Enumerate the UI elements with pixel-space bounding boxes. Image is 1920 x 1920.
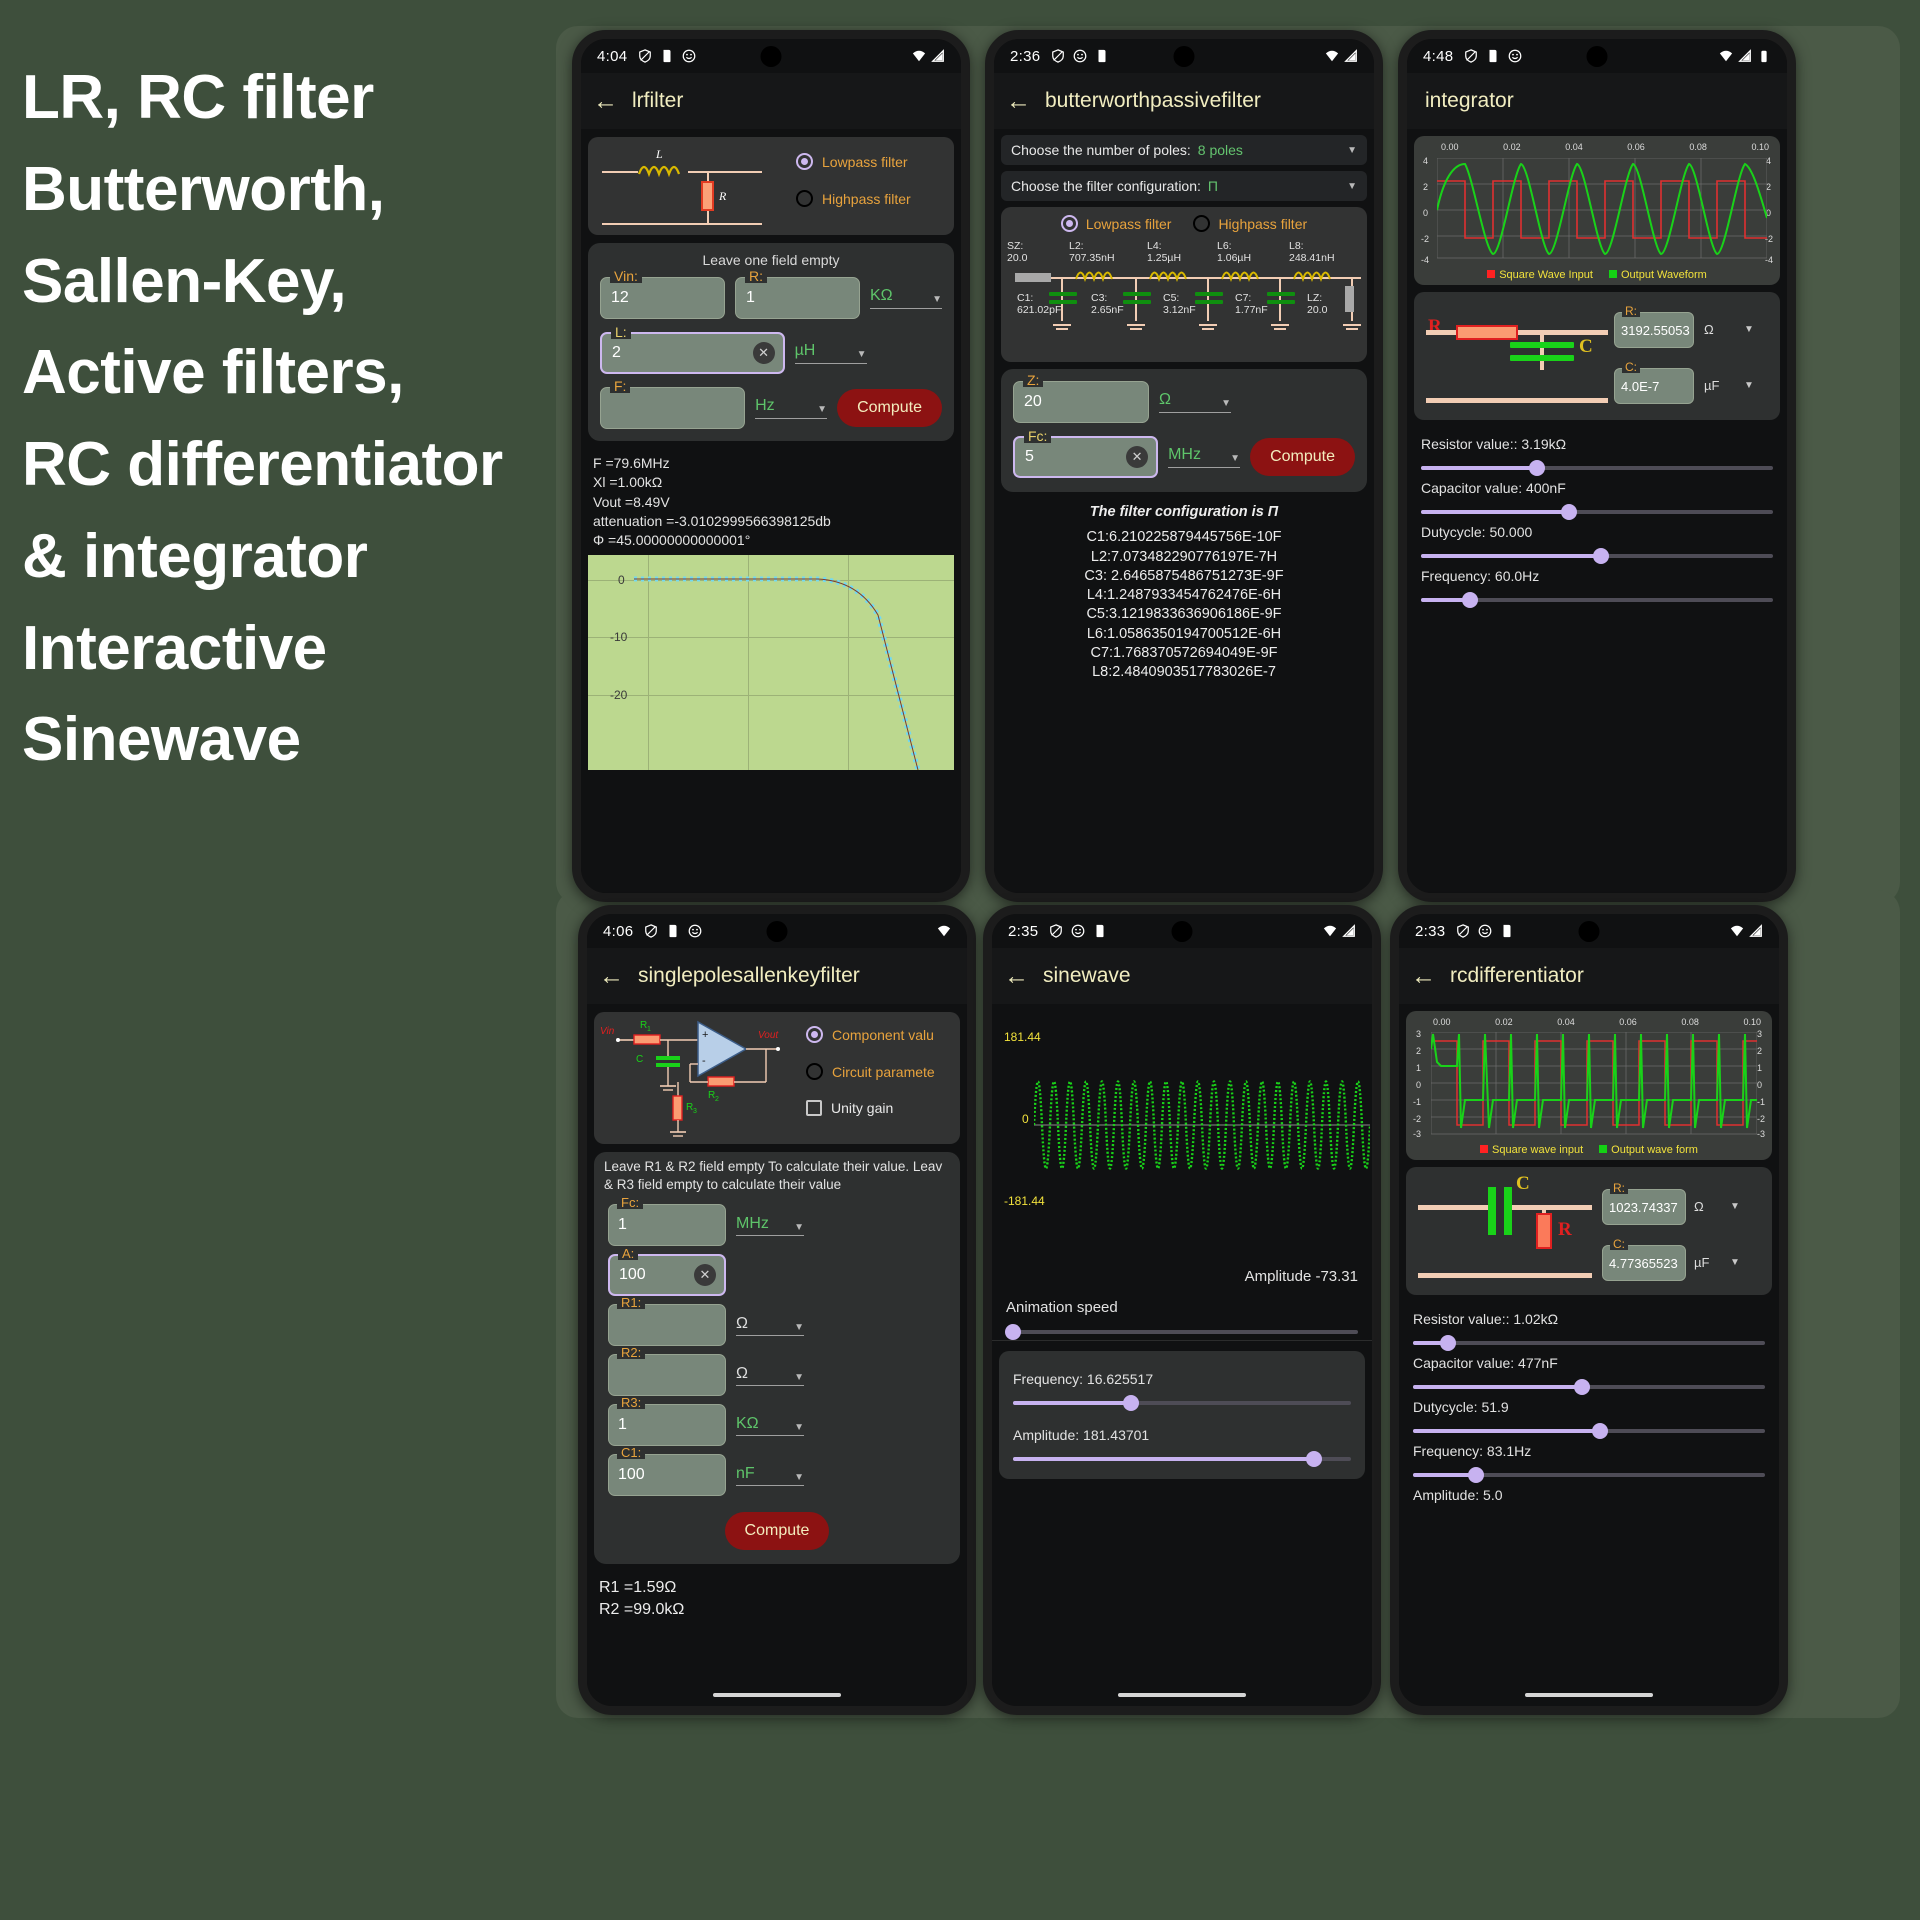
butterworth-circuit: SZ:20.0 L2:707.35nH L4:1.25µH L6:1.06µH … [1007,240,1361,356]
rcdiff-waveforms [1431,1032,1757,1136]
option-lowpass[interactable]: Lowpass filter [1061,215,1172,232]
signal-icon [1749,924,1763,938]
result-line: C3: 2.6465875486751273E-9F [1000,567,1368,586]
sd-card-icon [1500,924,1514,938]
field-r[interactable]: R: 1023.74337 [1602,1189,1686,1225]
screen-sinewave: 2:35 ← sinewave 181.44 0 -181.44 Amplitu… [992,914,1372,1706]
poles-dropdown-value: 8 poles [1198,142,1243,158]
slider-frequency[interactable] [1421,598,1773,602]
field-f-label: F: [610,379,630,393]
inductor-L6-icon [1221,268,1269,282]
emoji-icon [688,924,702,938]
source-impedance-icon [1015,273,1051,282]
field-a[interactable]: A: 100 ✕ [608,1254,726,1296]
unit-f-value: Hz [755,397,775,415]
unit-z-value: Ω [1159,391,1171,409]
unit-c: µF [1704,378,1719,393]
signal-icon [931,49,945,63]
phone-integrator: 4:48 integrator 0.00 0.02 0.04 0.06 0.08… [1398,30,1796,902]
unit-select-fc[interactable]: MHz ▼ [1168,446,1240,468]
comp-L4-value: 1.25µH [1147,252,1181,264]
xlabel: 0.06 [1619,1017,1637,1027]
option-highpass[interactable]: Highpass filter [796,190,946,207]
shield-icon [1049,924,1063,938]
chevron-down-icon[interactable]: ▼ [794,1422,804,1433]
emoji-icon [1508,49,1522,63]
option-lowpass-label: Lowpass filter [822,154,908,170]
result-line: L8:2.4840903517783026E-7 [1000,663,1368,682]
integrator-circuit-card: R C R: 3192.55053 Ω ▼ C: 4.0E-7 µF ▼ [1414,292,1780,420]
screen-sallenkey: 4:06 ← singlepolesallenkeyfilter Vin R1 [587,914,967,1706]
comp-L2-value: 707.35nH [1069,252,1115,264]
status-bar: 2:35 [992,914,1372,948]
field-r3[interactable]: R3: 1 [608,1404,726,1446]
result-line: R1 =1.59Ω [599,1577,955,1599]
unit-fc-value: MHz [736,1215,769,1233]
camera-hole [761,46,782,67]
filter-type-options: Lowpass filter Highpass filter [796,153,946,227]
comp-SZ-value: 20.0 [1007,252,1027,264]
back-button[interactable]: ← [1006,89,1031,114]
inductor-L8-icon [1293,268,1341,282]
legend-label: Square Wave Input [1499,269,1593,281]
ylabel: -3 [1413,1129,1421,1139]
result-line: C7:1.768370572694049E-9F [1000,644,1368,663]
field-f[interactable]: F: [600,387,745,429]
page-title: butterworthpassivefilter [1045,89,1261,113]
xlabel: 0.04 [1557,1017,1575,1027]
ylabel: 2 [1423,182,1428,192]
field-c-label: C: [1622,361,1640,373]
circuit-c-label: C [1516,1173,1530,1195]
camera-hole [1174,46,1195,67]
poles-dropdown[interactable]: Choose the number of poles: 8 poles ▼ [1001,135,1367,165]
shield-icon [1051,49,1065,63]
field-l[interactable]: L: 2 ✕ [600,332,785,374]
phone-sinewave: 2:35 ← sinewave 181.44 0 -181.44 Amplitu… [983,905,1381,1715]
comp-C1-name: C1: [1017,292,1033,304]
field-fc-label: Fc: [1024,429,1051,443]
field-c-value: 4.0E-7 [1621,379,1659,394]
page-title: integrator [1425,89,1514,113]
field-r3-value: 1 [618,1416,627,1434]
comp-LZ-value: 20.0 [1307,304,1327,316]
ylabel: 4 [1423,156,1428,166]
slider-label-dutycycle: Dutycycle: 50.000 [1407,514,1787,540]
slider-amplitude[interactable] [1013,1457,1351,1461]
shield-icon [1456,924,1470,938]
option-circuit-parameters[interactable]: Circuit paramete [806,1063,956,1080]
promo-headline: LR, RC filter Butterworth, Sallen-Key, A… [22,52,562,786]
battery-icon [1757,49,1771,63]
inductor-label: L [656,147,663,162]
comp-C1-value: 621.02pF [1017,304,1061,316]
result-line: Xl =1.00kΩ [593,473,949,492]
row-r2: R2: Ω ▼ [594,1346,960,1396]
rcdiff-legend: Square wave input Output wave form [1411,1141,1767,1156]
nav-gesture-bar [587,1678,967,1706]
svg-text:2: 2 [715,1096,719,1103]
row-c1: C1: 100 nF ▼ [594,1446,960,1496]
wifi-icon [937,924,951,938]
ylabel-right: -1 [1757,1097,1765,1107]
back-button[interactable]: ← [1004,964,1029,989]
chevron-down-icon[interactable]: ▼ [817,404,827,415]
field-r2[interactable]: R2: [608,1354,726,1396]
unit-select-fc[interactable]: MHz ▼ [736,1215,804,1236]
plot-xlabels: 0.00 0.02 0.04 0.06 0.08 0.10 [1411,1017,1767,1029]
radio-highpass-icon[interactable] [1193,215,1210,232]
ylabel-right: 3 [1757,1029,1762,1039]
capacitor-C7-icon [1267,292,1295,304]
option-highpass-label: Highpass filter [822,191,911,207]
butterworth-results: The filter configuration is Π C1:6.21022… [994,499,1374,687]
plot-yzero-label: 0 [1022,1112,1029,1126]
capacitor-C5-icon [1195,292,1223,304]
field-r-label: R: [1610,1182,1628,1194]
camera-hole [767,921,788,942]
result-line: L2:7.073482290776197E-7H [1000,548,1368,567]
status-bar: 4:06 [587,914,967,948]
option-unity-gain[interactable]: Unity gain [806,1100,956,1116]
unit-select-z[interactable]: Ω ▼ [1159,391,1231,413]
resistor-icon [1456,325,1518,340]
field-c[interactable]: C: 4.77365523 [1602,1245,1686,1281]
lr-input-card: Leave one field empty Vin: 12 R: 1 KΩ ▼ … [588,243,954,441]
chevron-down-icon[interactable]: ▼ [1221,398,1231,409]
app-bar: ← butterworthpassivefilter [994,73,1374,129]
radio-component-values-icon[interactable] [806,1026,823,1043]
svg-text:Vout: Vout [758,1030,779,1041]
svg-text:3: 3 [693,1108,697,1115]
chevron-down-icon[interactable]: ▼ [794,1322,804,1333]
phone-singlepolesallenkeyfilter: 4:06 ← singlepolesallenkeyfilter Vin R1 [578,905,976,1715]
sallenkey-options: Component valu Circuit paramete Unity ga… [806,1026,956,1136]
nav-gesture-bar [1399,1678,1779,1706]
unit-l-value: µH [795,342,816,360]
wifi-icon [912,49,926,63]
field-r[interactable]: R: 3192.55053 [1614,312,1694,348]
resistor-label: R [719,189,726,204]
screen-integrator: 4:48 integrator 0.00 0.02 0.04 0.06 0.08… [1407,39,1787,893]
result-line: C1:6.210225879445756E-10F [1000,528,1368,547]
slider-capacitor[interactable] [1413,1385,1765,1389]
legend-square-wave: Square Wave Input [1487,269,1593,281]
field-r-label: R: [745,269,767,283]
unit-r: Ω [1704,322,1714,337]
unit-select-l[interactable]: µH ▼ [795,342,867,364]
wire-left [602,171,638,173]
resistor-icon [1536,1213,1552,1249]
ylabel-right: -3 [1757,1129,1765,1139]
xlabel: 0.08 [1681,1017,1699,1027]
field-z[interactable]: Z: 20 [1013,381,1149,423]
radio-lowpass-icon[interactable] [1061,215,1078,232]
option-highpass-label: Highpass filter [1218,216,1307,232]
comp-SZ-name: SZ: [1007,240,1023,252]
back-button[interactable]: ← [1411,964,1436,989]
wifi-icon [1323,924,1337,938]
field-vin[interactable]: Vin: 12 [600,277,725,319]
shield-icon [644,924,658,938]
unit-c1-value: nF [736,1465,755,1483]
field-fc[interactable]: Fc: 1 [608,1204,726,1246]
field-r1[interactable]: R1: [608,1304,726,1346]
field-r[interactable]: R: 1 [735,277,860,319]
chevron-down-icon[interactable]: ▼ [857,349,867,360]
unit-fc-value: MHz [1168,446,1201,464]
app-bar: ← sinewave [992,948,1372,1004]
chevron-down-icon[interactable]: ▼ [1730,1257,1740,1268]
slider-dutycycle[interactable] [1421,554,1773,558]
xlabel: 0.00 [1433,1017,1451,1027]
checkbox-unity-gain-icon[interactable] [806,1100,822,1116]
compute-button[interactable]: Compute [725,1512,830,1550]
back-button[interactable]: ← [593,89,618,114]
configuration-dropdown[interactable]: Choose the filter configuration: Π ▼ [1001,171,1367,201]
sd-card-icon [1095,49,1109,63]
result-line: L6:1.0586350194700512E-6H [1000,625,1368,644]
unit-select-r2[interactable]: Ω ▼ [736,1365,804,1386]
shield-icon [1464,49,1478,63]
capacitor-plate-left-icon [1488,1187,1496,1235]
unit-select-f[interactable]: Hz ▼ [755,397,827,419]
chevron-down-icon[interactable]: ▼ [1744,324,1754,335]
comp-C3-name: C3: [1091,292,1107,304]
unit-select-r3[interactable]: KΩ ▼ [736,1415,804,1436]
animation-speed-label: Animation speed [992,1285,1372,1316]
page-title: lrfilter [632,89,683,113]
butterworth-schematic-card: Lowpass filter Highpass filter SZ:20.0 L… [1001,207,1367,362]
unit-c: µF [1694,1255,1709,1270]
result-line: Φ =45.00000000000001° [593,531,949,550]
ylabel: -1 [1413,1097,1421,1107]
field-l-label: L: [611,325,631,339]
clear-icon[interactable]: ✕ [753,342,775,364]
page-title: rcdifferentiator [1450,964,1584,988]
phone-rcdifferentiator: 2:33 ← rcdifferentiator 0.00 0.02 0.04 0… [1390,905,1788,1715]
radio-lowpass-icon[interactable] [796,153,813,170]
field-r-label: R: [1622,305,1640,317]
compute-button[interactable]: Compute [1250,438,1355,476]
chevron-down-icon[interactable]: ▼ [1230,453,1240,464]
chevron-down-icon[interactable]: ▼ [794,1472,804,1483]
row-vin-r: Vin: 12 R: 1 KΩ ▼ [588,272,954,327]
ylabel: 2 [1416,1046,1421,1056]
camera-hole [1579,921,1600,942]
chevron-down-icon[interactable]: ▼ [1347,181,1357,192]
radio-highpass-icon[interactable] [796,190,813,207]
sallenkey-schematic: Vin R1 C + - Vout [594,1012,960,1144]
radio-circuit-parameters-icon[interactable] [806,1063,823,1080]
option-unity-gain-label: Unity gain [831,1100,893,1116]
lr-results: F =79.6MHz Xl =1.00kΩ Vout =8.49V attenu… [581,448,961,555]
circuit-c-label: C [1579,336,1593,358]
unit-r1-value: Ω [736,1315,748,1333]
xlabel: 0.10 [1751,142,1769,152]
comp-L6-value: 1.06µH [1217,252,1251,264]
inductor-icon [638,162,690,178]
inductor-L2-icon [1075,268,1123,282]
capacitor-icon [1510,342,1574,361]
chevron-down-icon[interactable]: ▼ [1730,1201,1740,1212]
sd-card-icon [660,49,674,63]
legend-label: Output wave form [1611,1144,1698,1156]
option-lowpass-label: Lowpass filter [1086,216,1172,232]
unit-r-value: KΩ [870,287,893,305]
compute-button[interactable]: Compute [837,389,942,427]
chevron-down-icon[interactable]: ▼ [1347,145,1357,156]
field-c1-value: 100 [618,1466,645,1484]
sallenkey-results: R1 =1.59Ω R2 =99.0kΩ [587,1571,967,1626]
rcdiff-wave-card: 0.00 0.02 0.04 0.06 0.08 0.10 3 2 1 0 -1… [1406,1011,1772,1160]
load-impedance-icon [1345,286,1354,312]
status-time: 2:36 [1010,48,1040,65]
ylabel: 0 [1423,208,1428,218]
slider-capacitor[interactable] [1421,510,1773,514]
unit-r2-value: Ω [736,1365,748,1383]
app-bar: ← rcdifferentiator [1399,948,1779,1004]
sd-card-icon [1093,924,1107,938]
comp-C5-name: C5: [1163,292,1179,304]
ylabel: 1 [1416,1063,1421,1073]
butterworth-input-card: Z: 20 Ω ▼ Fc: 5 ✕ MHz ▼ Compute [1001,369,1367,492]
comp-L4-name: L4: [1147,240,1162,252]
nav-gesture-bar [992,1678,1372,1706]
comp-L6-name: L6: [1217,240,1232,252]
chevron-down-icon[interactable]: ▼ [932,294,942,305]
slider-frequency[interactable] [1013,1401,1351,1405]
slider-label-dutycycle: Dutycycle: 51.9 [1399,1389,1779,1415]
emoji-icon [1073,49,1087,63]
slider-label-frequency: Frequency: 16.625517 [999,1361,1365,1387]
field-r2-label: R2: [617,1346,645,1359]
unit-select-c1[interactable]: nF ▼ [736,1465,804,1486]
integrator-wave-card: 0.00 0.02 0.04 0.06 0.08 0.10 4 2 0 -2 -… [1414,136,1780,285]
option-component-values[interactable]: Component valu [806,1026,956,1043]
configuration-dropdown-label: Choose the filter configuration: [1011,178,1201,194]
clear-icon[interactable]: ✕ [694,1264,716,1286]
svg-text:Vin: Vin [600,1026,615,1037]
comp-C3-value: 2.65nF [1091,304,1124,316]
comp-L2-name: L2: [1069,240,1084,252]
status-time: 2:33 [1415,923,1445,940]
camera-hole [1172,921,1193,942]
comp-L8-value: 248.41nH [1289,252,1335,264]
unit-select-r1[interactable]: Ω ▼ [736,1315,804,1336]
wifi-icon [1730,924,1744,938]
screen-rcdifferentiator: 2:33 ← rcdifferentiator 0.00 0.02 0.04 0… [1399,914,1779,1706]
page-title: sinewave [1043,964,1131,988]
row-fc: Fc: 1 MHz ▼ [594,1196,960,1246]
clear-icon[interactable]: ✕ [1126,446,1148,468]
wifi-icon [1325,49,1339,63]
amplitude-label: Amplitude: 5.0 [1399,1477,1779,1503]
field-fc-value: 1 [618,1216,627,1234]
slider-label-resistor: Resistor value:: 3.19kΩ [1407,426,1787,452]
camera-hole [1587,46,1608,67]
chevron-down-icon[interactable]: ▼ [1744,380,1754,391]
svg-text:1: 1 [647,1026,651,1033]
comp-C7-value: 1.77nF [1235,304,1268,316]
slider-dutycycle[interactable] [1413,1429,1765,1433]
screen-butterworth: 2:36 ← butterworthpassivefilter Choose t… [994,39,1374,893]
legend-square-wave: Square wave input [1480,1144,1583,1156]
integrator-waveforms [1437,158,1767,262]
result-line: C5:3.1219833636906186E-9F [1000,605,1368,624]
ylabel: -4 [1421,255,1429,265]
chevron-down-icon[interactable]: ▼ [794,1372,804,1383]
option-highpass[interactable]: Highpass filter [1193,215,1307,232]
sinewave-controls-card: Frequency: 16.625517 Amplitude: 181.4370… [999,1351,1365,1479]
slider-label-frequency: Frequency: 83.1Hz [1399,1433,1779,1459]
back-button[interactable]: ← [599,964,624,989]
row-z: Z: 20 Ω ▼ [1001,369,1367,431]
xlabel: 0.04 [1565,142,1583,152]
status-time: 4:04 [597,48,627,65]
slider-label-resistor: Resistor value:: 1.02kΩ [1399,1301,1779,1327]
page-title: singlepolesallenkeyfilter [638,964,860,988]
field-z-label: Z: [1023,373,1043,387]
field-r1-label: R1: [617,1296,645,1309]
slider-animation-speed[interactable] [1006,1330,1358,1334]
result-line: F =79.6MHz [593,454,949,473]
ylabel: 0 [1416,1080,1421,1090]
ylabel: -2 [1421,234,1429,244]
unit-select-r[interactable]: KΩ ▼ [870,287,942,309]
field-fc[interactable]: Fc: 5 ✕ [1013,436,1158,478]
field-a-label: A: [618,1247,638,1260]
slider-label-amplitude: Amplitude: 181.43701 [999,1405,1365,1443]
comp-L8-name: L8: [1289,240,1304,252]
field-c1[interactable]: C1: 100 [608,1454,726,1496]
slider-label-capacitor: Capacitor value: 400nF [1407,470,1787,496]
slider-resistor[interactable] [1421,466,1773,470]
field-c[interactable]: C: 4.0E-7 [1614,368,1694,404]
phone-butterworthpassivefilter: 2:36 ← butterworthpassivefilter Choose t… [985,30,1383,902]
svg-text:C: C [636,1054,643,1065]
integrator-legend: Square Wave Input Output Waveform [1419,266,1775,281]
slider-resistor[interactable] [1413,1341,1765,1345]
option-circuit-parameters-label: Circuit paramete [832,1064,935,1080]
comp-LZ-name: LZ: [1307,292,1322,304]
result-line: L4:1.2487933454762476E-6H [1000,586,1368,605]
slider-frequency[interactable] [1413,1473,1765,1477]
emoji-icon [1478,924,1492,938]
slider-label-capacitor: Capacitor value: 477nF [1399,1345,1779,1371]
row-l: L: 2 ✕ µH ▼ [588,327,954,382]
bode-curve [588,555,954,770]
capacitor-C3-icon [1123,292,1151,304]
signal-icon [1344,49,1358,63]
row-f-compute: F: Hz ▼ Compute [588,382,954,441]
legend-label: Output Waveform [1621,269,1707,281]
field-r-value: 1023.74337 [1609,1200,1678,1215]
ylabel-right: 1 [1757,1063,1762,1073]
rcdiff-plot: 3 2 1 0 -1 -2 -3 3 2 1 0 -1 -2 -3 [1411,1029,1767,1141]
xlabel: 0.02 [1503,142,1521,152]
status-time: 4:48 [1423,48,1453,65]
chevron-down-icon[interactable]: ▼ [794,1222,804,1233]
comp-C7-name: C7: [1235,292,1251,304]
sinewave-trace [1034,1032,1370,1218]
xlabel: 0.06 [1627,142,1645,152]
ylabel-right: 0 [1757,1080,1762,1090]
legend-label: Square wave input [1492,1144,1583,1156]
field-r-value: 3192.55053 [1621,323,1690,338]
row-r3: R3: 1 KΩ ▼ [594,1396,960,1446]
option-lowpass[interactable]: Lowpass filter [796,153,946,170]
